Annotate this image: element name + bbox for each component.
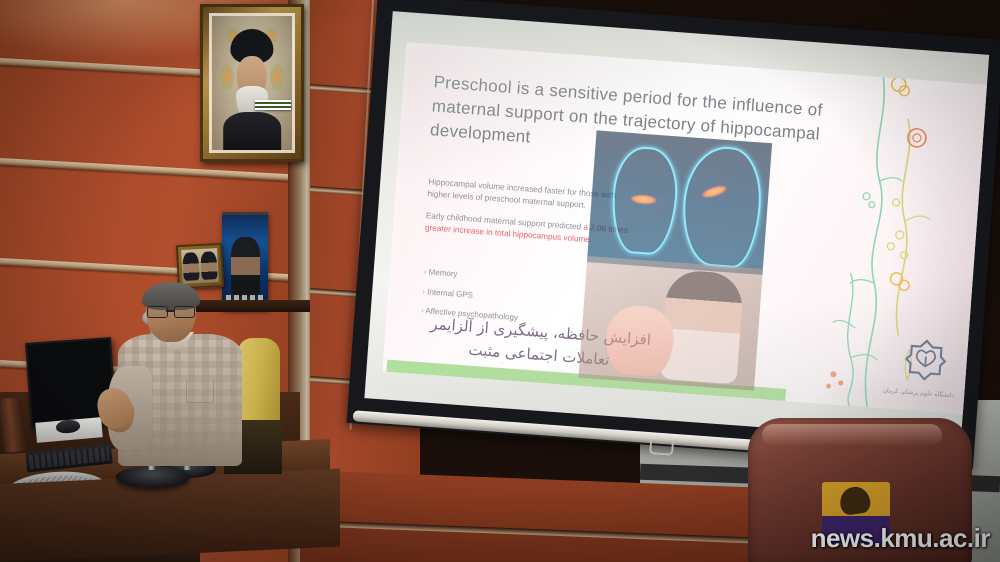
watermark: news.kmu.ac.ir xyxy=(811,523,990,554)
photo-scene: Preschool is a sensitive period for the … xyxy=(0,0,1000,562)
head-side-view-outline xyxy=(679,144,765,270)
framed-portrait xyxy=(200,4,304,162)
university-medallion-logo xyxy=(903,338,948,383)
glasses-left-lens xyxy=(147,306,168,318)
small-frame-figure xyxy=(182,252,199,281)
glasses-right-lens xyxy=(174,306,195,318)
projector-screen: Preschool is a sensitive period for the … xyxy=(347,0,1000,469)
portrait-ornament xyxy=(270,64,284,90)
portrait-nameplate xyxy=(255,100,291,110)
small-frame-figure xyxy=(200,251,217,280)
screen-pull-handle[interactable] xyxy=(649,439,674,456)
presentation-slide: Preschool is a sensitive period for the … xyxy=(382,42,989,414)
portrait-ornament xyxy=(220,64,234,90)
banner-rail xyxy=(222,212,268,215)
banner-portrait xyxy=(231,237,260,296)
speaker-glasses xyxy=(146,306,196,316)
small-frame-image xyxy=(181,248,219,284)
slide-footer-persian: دانشگاه علوم پزشکی کرمان xyxy=(882,387,954,399)
baby-figure xyxy=(604,304,676,377)
glasses-bridge xyxy=(166,310,174,312)
portrait-robe xyxy=(223,112,281,150)
mother-baby-image xyxy=(578,256,762,391)
chair-highlight xyxy=(762,424,942,446)
mother-figure xyxy=(660,269,745,384)
wall-banner xyxy=(222,212,268,310)
speaker-shirt-pocket xyxy=(186,380,214,403)
brain-scan-image xyxy=(587,130,772,275)
sticker-emblem xyxy=(838,485,871,516)
portrait-image xyxy=(212,16,292,150)
hippocampus-highlight xyxy=(630,194,657,205)
screen-surface: Preschool is a sensitive period for the … xyxy=(364,11,989,442)
small-framed-photo xyxy=(176,243,224,289)
